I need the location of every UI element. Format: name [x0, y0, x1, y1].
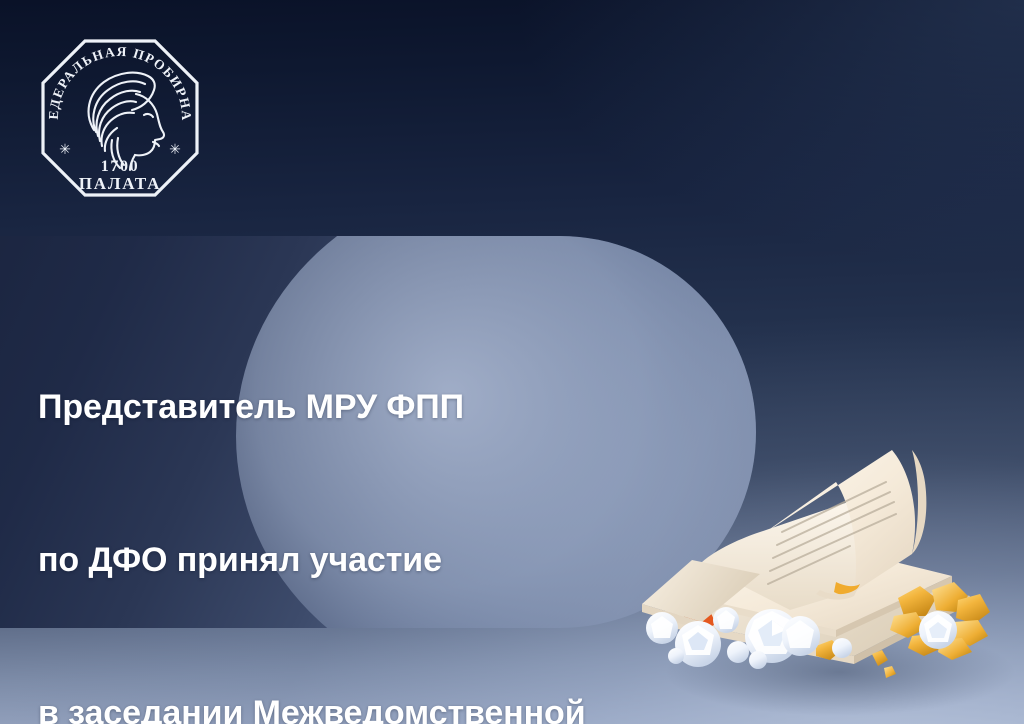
logo-left-star-icon: ✳ [59, 143, 71, 158]
diamond-small-2 [749, 651, 767, 669]
diamond-left-3 [713, 607, 739, 633]
diamond-left-4 [727, 641, 749, 663]
page-title: Представитель МРУ ФПП по ДФО принял учас… [38, 280, 738, 724]
diamond-in-gold [919, 611, 957, 649]
logo-arc-text: ФЕДЕРАЛЬНАЯ ПРОБИРНАЯ [36, 34, 194, 122]
logo-right-star-icon: ✳ [169, 143, 181, 158]
headline-line-3: в заседании Межведомственной [38, 688, 738, 724]
diamond-small-3 [668, 648, 684, 664]
headline-line-2: по ДФО принял участие [38, 535, 738, 586]
documents-gems-gold-illustration [640, 440, 1024, 724]
headline-line-1: Представитель МРУ ФПП [38, 382, 738, 433]
diamond-small-1 [832, 638, 852, 658]
diamond-left-2 [646, 612, 678, 644]
logo-year: 1700 [101, 158, 139, 175]
federal-assay-chamber-logo: ФЕДЕРАЛЬНАЯ ПРОБИРНАЯ [36, 34, 204, 202]
maiden-profile-icon [89, 73, 164, 170]
logo-bottom-text: ПАЛАТА [79, 174, 162, 193]
poster-canvas: ФЕДЕРАЛЬНАЯ ПРОБИРНАЯ [0, 0, 1024, 724]
